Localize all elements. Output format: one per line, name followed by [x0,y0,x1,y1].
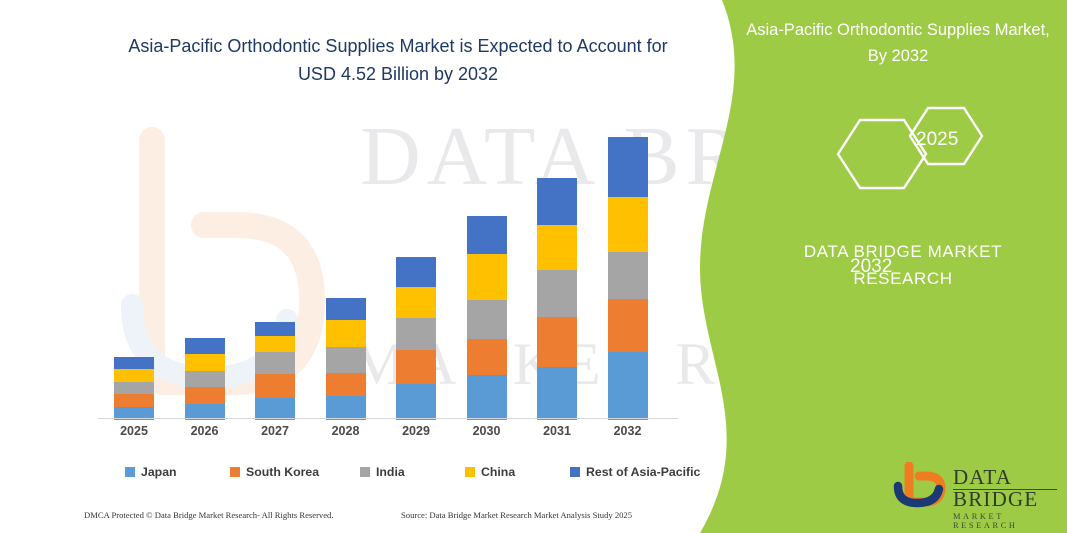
panel-brand-line2: RESEARCH [760,265,1046,292]
x-label-2031: 2031 [527,424,587,438]
bar-segment-japan[interactable] [255,398,295,420]
bar-segment-rest-of-asia-pacific[interactable] [185,338,225,354]
bar-segment-india[interactable] [537,270,577,317]
bar-segment-india[interactable] [185,371,225,387]
legend-swatch-icon [230,467,240,477]
bar-segment-china[interactable] [608,197,648,252]
infographic-canvas: DATA BRIDGE MARKET RESEARCH Asia-Pacific… [0,0,1067,533]
bar-2028[interactable] [326,298,366,420]
legend-item-china[interactable]: China [465,465,515,479]
footer: DMCA Protected © Data Bridge Market Rese… [0,506,700,528]
x-label-2032: 2032 [598,424,658,438]
bar-segment-china[interactable] [114,369,154,382]
x-axis-line [98,418,678,419]
legend-label: Japan [141,465,177,479]
bar-segment-india[interactable] [255,352,295,374]
bar-2030[interactable] [467,216,507,420]
bar-segment-china[interactable] [326,320,366,347]
legend-label: India [376,465,405,479]
bar-2025[interactable] [114,357,154,420]
logo-underline [953,489,1057,490]
x-label-2026: 2026 [175,424,235,438]
bar-2026[interactable] [185,338,225,420]
legend-swatch-icon [570,467,580,477]
data-bridge-logo: DATA BRIDGE MARKET RESEARCH [893,462,1059,514]
bar-segment-japan[interactable] [537,367,577,420]
stacked-bar-chart [98,120,678,420]
panel-brand-block: DATA BRIDGE MARKET RESEARCH [760,238,1046,292]
legend-swatch-icon [360,467,370,477]
legend-swatch-icon [125,467,135,477]
hexagon-badges: 2032 2025 [828,96,1018,208]
bar-segment-china[interactable] [467,254,507,300]
bar-segment-rest-of-asia-pacific[interactable] [467,216,507,254]
panel-title: Asia-Pacific Orthodontic Supplies Market… [744,17,1052,69]
bar-segment-india[interactable] [114,382,154,394]
bar-segment-india[interactable] [396,318,436,350]
x-label-2028: 2028 [316,424,376,438]
bar-2031[interactable] [537,178,577,420]
legend-label: Rest of Asia-Pacific [586,465,700,479]
bar-segment-china[interactable] [255,336,295,352]
bar-segment-india[interactable] [467,300,507,339]
x-label-2027: 2027 [245,424,305,438]
logo-title: DATA BRIDGE [953,466,1059,510]
hexagon-2025-label: 2025 [916,129,958,151]
logo-text-block: DATA BRIDGE MARKET RESEARCH [953,466,1059,530]
bar-segment-japan[interactable] [608,352,648,420]
legend-item-south-korea[interactable]: South Korea [230,465,319,479]
footer-source-text: Source: Data Bridge Market Research Mark… [401,510,632,520]
bar-segment-rest-of-asia-pacific[interactable] [255,322,295,336]
bar-segment-south-korea[interactable] [185,387,225,404]
legend-label: South Korea [246,465,319,479]
bar-segment-rest-of-asia-pacific[interactable] [608,137,648,197]
bar-segment-india[interactable] [608,252,648,299]
x-label-2025: 2025 [104,424,164,438]
bar-segment-south-korea[interactable] [326,373,366,396]
hexagon-outlines [828,96,1018,208]
bar-segment-japan[interactable] [326,396,366,420]
x-axis-labels: 20252026202720282029203020312032 [98,424,678,446]
bar-2032[interactable] [608,137,648,420]
footer-dmca-text: DMCA Protected © Data Bridge Market Rese… [84,510,334,520]
legend-item-rest-of-asia-pacific[interactable]: Rest of Asia-Pacific [570,465,700,479]
x-label-2029: 2029 [386,424,446,438]
logo-mark-icon [893,462,949,510]
legend-swatch-icon [465,467,475,477]
bar-segment-south-korea[interactable] [608,299,648,352]
page-title: Asia-Pacific Orthodontic Supplies Market… [118,32,678,88]
bar-segment-japan[interactable] [396,384,436,420]
bar-segment-rest-of-asia-pacific[interactable] [114,357,154,369]
bar-segment-china[interactable] [396,287,436,318]
logo-tagline: MARKET RESEARCH [953,512,1059,530]
bar-segment-south-korea[interactable] [255,374,295,398]
bar-segment-south-korea[interactable] [537,317,577,367]
bar-segment-rest-of-asia-pacific[interactable] [326,298,366,320]
bar-segment-china[interactable] [537,225,577,270]
bar-segment-japan[interactable] [467,375,507,420]
bar-2029[interactable] [396,257,436,420]
x-label-2030: 2030 [457,424,517,438]
bar-2027[interactable] [255,322,295,420]
legend-label: China [481,465,515,479]
bar-segment-rest-of-asia-pacific[interactable] [537,178,577,225]
bar-segment-rest-of-asia-pacific[interactable] [396,257,436,287]
chart-legend: JapanSouth KoreaIndiaChinaRest of Asia-P… [110,465,670,485]
bar-segment-south-korea[interactable] [114,394,154,407]
bar-segment-india[interactable] [326,347,366,373]
legend-item-india[interactable]: India [360,465,405,479]
legend-item-japan[interactable]: Japan [125,465,177,479]
bar-segment-south-korea[interactable] [396,350,436,384]
bar-segment-china[interactable] [185,354,225,371]
bar-segment-south-korea[interactable] [467,339,507,375]
panel-brand-line1: DATA BRIDGE MARKET [760,238,1046,265]
